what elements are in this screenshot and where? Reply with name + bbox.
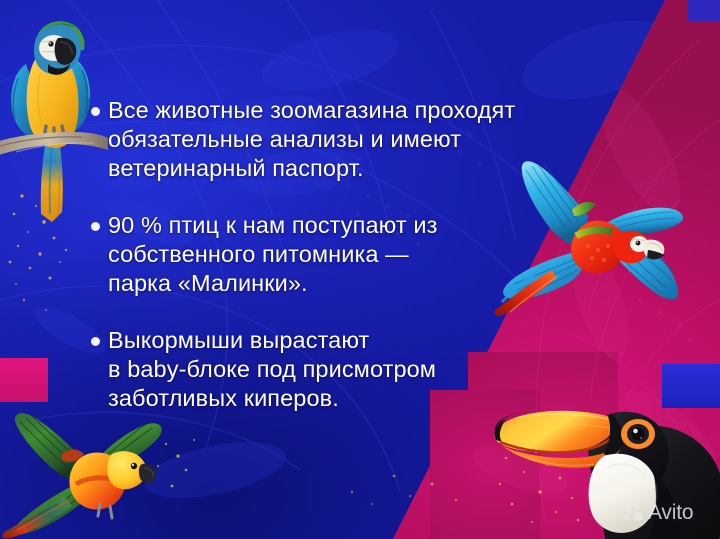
bullet-line: обязательные анализы и имеют xyxy=(108,125,628,154)
bullet-line: собственного питомника — xyxy=(108,240,628,269)
avito-watermark: Avito xyxy=(624,502,693,523)
avito-dots-icon xyxy=(624,504,643,522)
promo-banner: Все животные зоомагазина проходят обязат… xyxy=(0,0,720,539)
bullet-item-health-checks: Все животные зоомагазина проходят обязат… xyxy=(88,96,628,183)
bullet-line: Все животные зоомагазина проходят xyxy=(108,96,628,125)
avito-brand-label: Avito xyxy=(648,502,693,523)
bullet-list: Все животные зоомагазина проходят обязат… xyxy=(88,96,628,413)
bullet-text-own-nursery: 90 % птиц к нам поступают из собственног… xyxy=(88,211,628,298)
bullet-line: в baby-блоке под присмотром xyxy=(108,355,628,384)
bullet-item-baby-block: Выкормыши вырастают в baby-блоке под при… xyxy=(88,326,628,413)
bullet-item-own-nursery: 90 % птиц к нам поступают из собственног… xyxy=(88,211,628,298)
bullet-line: заботливых киперов. xyxy=(108,384,628,413)
bullet-dot-icon xyxy=(91,222,100,231)
bullet-dot-icon xyxy=(91,337,100,346)
accent-rectangle-blue-top-right xyxy=(688,0,720,22)
bullet-line: 90 % птиц к нам поступают из xyxy=(108,211,628,240)
bullet-text-baby-block: Выкормыши вырастают в baby-блоке под при… xyxy=(88,326,628,413)
bullet-line: ветеринарный паспорт. xyxy=(108,154,628,183)
bullet-dot-icon xyxy=(91,107,100,116)
conure-flying-image xyxy=(0,392,182,539)
bullet-line: Выкормыши вырастают xyxy=(108,326,628,355)
bullet-line: парка «Малинки». xyxy=(108,269,628,298)
bullet-text-health-checks: Все животные зоомагазина проходят обязат… xyxy=(88,96,628,183)
